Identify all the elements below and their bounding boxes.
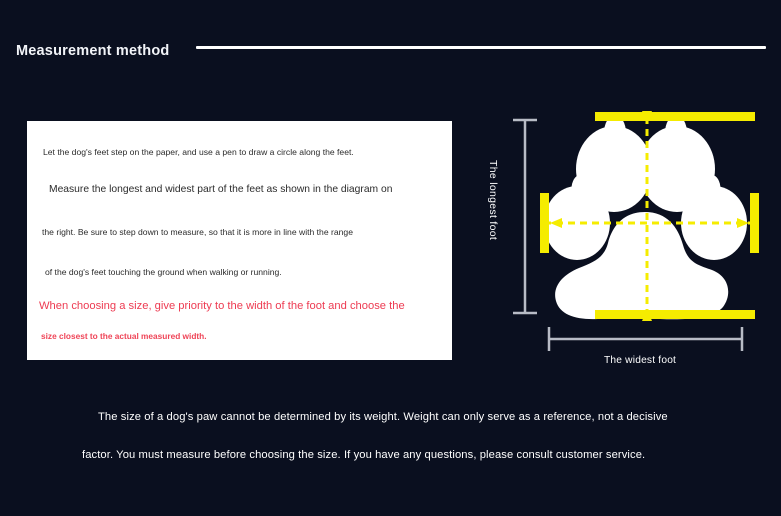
instruction-line-4: of the dog's feet touching the ground wh… — [45, 268, 282, 277]
longest-foot-label: The longest foot — [485, 160, 499, 240]
paw-measurement-diagram — [480, 95, 775, 375]
instruction-highlight-line-1: When choosing a size, give priority to t… — [39, 301, 405, 312]
instruction-card: Let the dog's feet step on the paper, an… — [27, 121, 452, 360]
longest-foot-bracket — [513, 120, 537, 313]
instruction-line-2: Measure the longest and widest part of t… — [49, 185, 392, 195]
instruction-line-1: Let the dog's feet step on the paper, an… — [43, 148, 354, 157]
page-title: Measurement method — [16, 43, 169, 59]
instruction-highlight-line-2: size closest to the actual measured widt… — [41, 332, 207, 340]
instruction-line-3: the right. Be sure to step down to measu… — [42, 228, 353, 237]
footer-line-1: The size of a dog's paw cannot be determ… — [98, 411, 668, 423]
header-divider — [196, 46, 766, 49]
widest-foot-bracket — [549, 327, 742, 351]
top-measure-bar — [595, 112, 755, 121]
footer-line-2: factor. You must measure before choosing… — [82, 449, 645, 461]
paw-diagram-svg — [480, 95, 775, 375]
measurement-method-page: Measurement method Let the dog's feet st… — [0, 0, 781, 516]
widest-foot-label: The widest foot — [604, 355, 676, 366]
bottom-measure-bar — [595, 310, 755, 319]
